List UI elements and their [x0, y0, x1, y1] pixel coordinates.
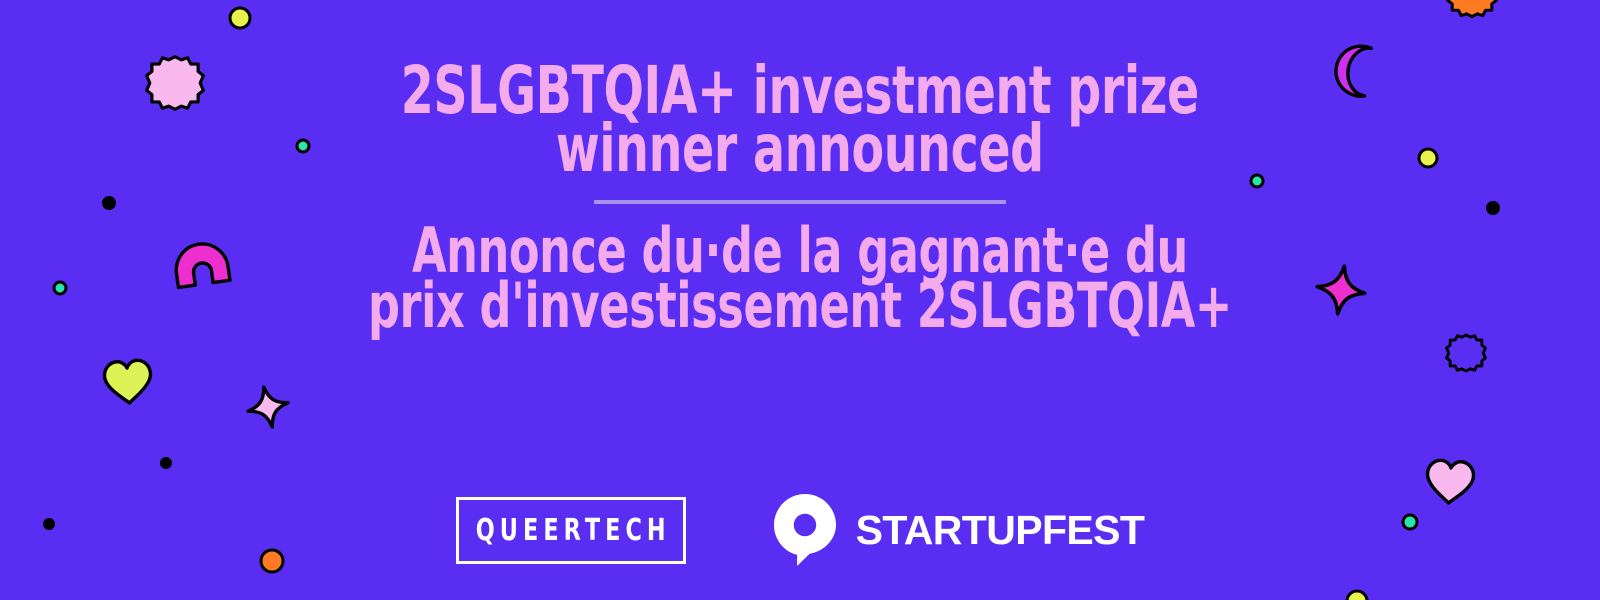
announcement-banner: 2SLGBTQIA+ investment prize winner annou…: [0, 0, 1600, 600]
headline-english: 2SLGBTQIA+ investment prize winner annou…: [401, 62, 1199, 178]
logo-row: QUEERTECH STARTUPFEST: [0, 494, 1600, 566]
startupfest-wordmark: STARTUPFEST: [856, 507, 1145, 554]
headline-french-line-2: prix d'investissement 2SLGBTQIA+: [368, 279, 1232, 334]
queertech-logo[interactable]: QUEERTECH: [456, 497, 686, 564]
headline-french: Annonce du·de la gagnant·e du prix d'inv…: [368, 224, 1232, 333]
queertech-wordmark: QUEERTECH: [471, 513, 671, 548]
speech-bubble-pin-icon: [774, 494, 836, 566]
startupfest-logo[interactable]: STARTUPFEST: [774, 494, 1145, 566]
divider: [594, 200, 1006, 204]
